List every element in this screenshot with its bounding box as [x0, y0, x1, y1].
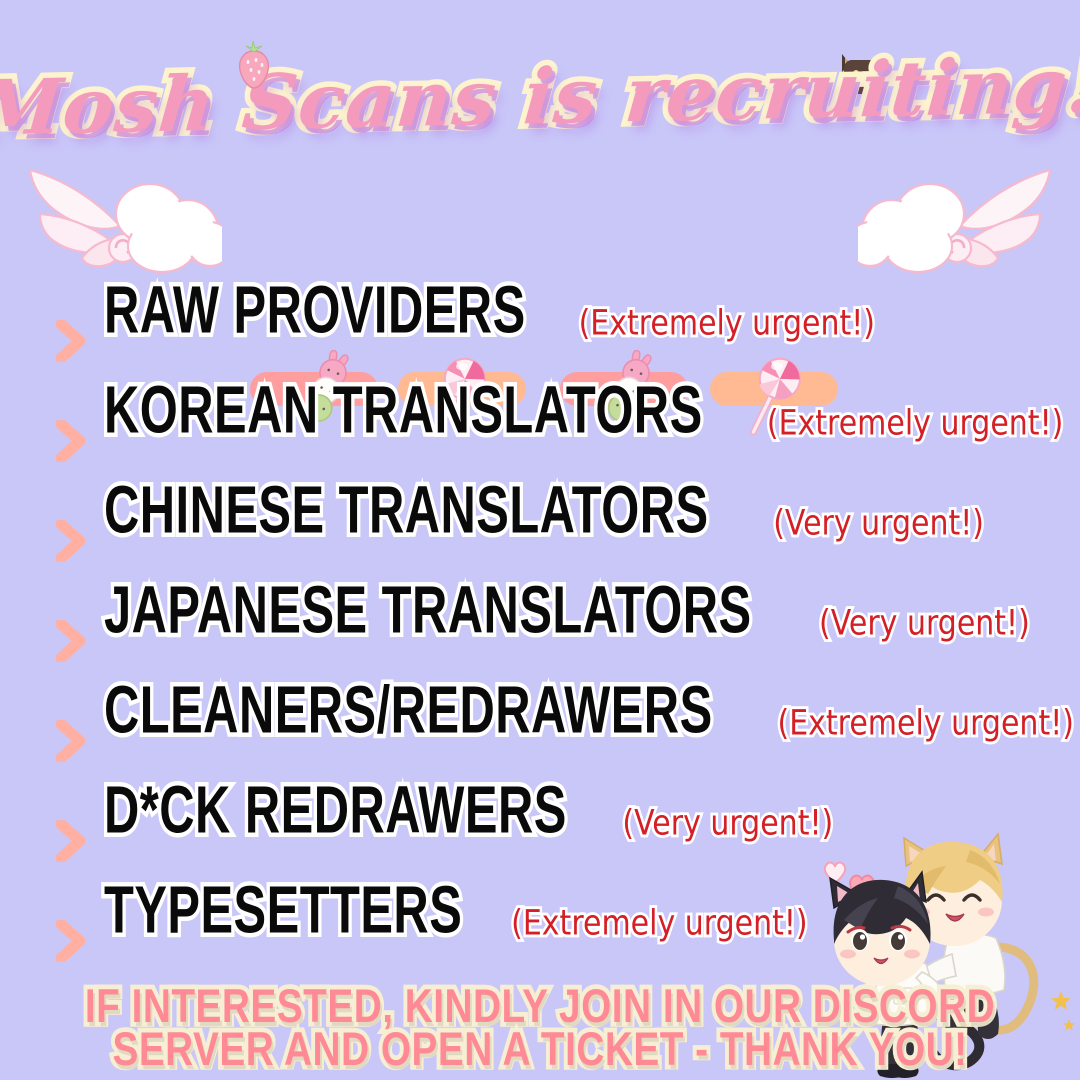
chevron-right-icon	[56, 820, 86, 862]
chevron-right-icon	[56, 620, 86, 662]
chevron-right-icon	[56, 320, 86, 362]
title-block: Mosh Scans is recruiting!	[0, 36, 1080, 156]
role-label: CHINESE TRANSLATORS	[104, 477, 709, 544]
chevron-right-icon	[56, 720, 86, 762]
strawberry-icon	[232, 38, 276, 90]
role-label: RAW PROVIDERS	[104, 277, 526, 344]
role-label: D*CK REDRAWERS	[104, 777, 567, 844]
footer-line-2: SERVER AND OPEN A TICKET - THANK YOU!	[16, 1025, 1064, 1076]
role-label: KOREAN TRANSLATORS	[104, 377, 703, 444]
role-urgency: (Very urgent!)	[819, 603, 1030, 643]
footer-callout: IF INTERESTED, KINDLY JOIN IN OUR DISCOR…	[0, 986, 1080, 1072]
angel-wing-icon	[22, 162, 222, 288]
role-urgency: (Extremely urgent!)	[778, 703, 1074, 743]
role-urgency: (Extremely urgent!)	[579, 303, 875, 343]
decorative-divider	[0, 160, 1080, 290]
chevron-right-icon	[56, 920, 86, 962]
angel-wing-icon	[858, 162, 1058, 288]
role-urgency: (Extremely urgent!)	[767, 403, 1063, 443]
recruitment-poster: Mosh Scans is recruiting!	[0, 0, 1080, 1080]
role-list: RAW PROVIDERS (Extremely urgent!) KOREAN…	[0, 294, 1080, 994]
page-title: Mosh Scans is recruiting!	[0, 40, 1080, 152]
role-label: CLEANERS/REDRAWERS	[104, 677, 713, 744]
role-urgency: (Very urgent!)	[773, 503, 984, 543]
list-item: TYPESETTERS (Extremely urgent!)	[0, 894, 1080, 994]
chevron-right-icon	[56, 420, 86, 462]
chevron-right-icon	[56, 520, 86, 562]
role-urgency: (Extremely urgent!)	[511, 903, 807, 943]
role-urgency: (Very urgent!)	[622, 803, 833, 843]
role-label: JAPANESE TRANSLATORS	[104, 577, 752, 644]
role-label: TYPESETTERS	[104, 877, 462, 944]
